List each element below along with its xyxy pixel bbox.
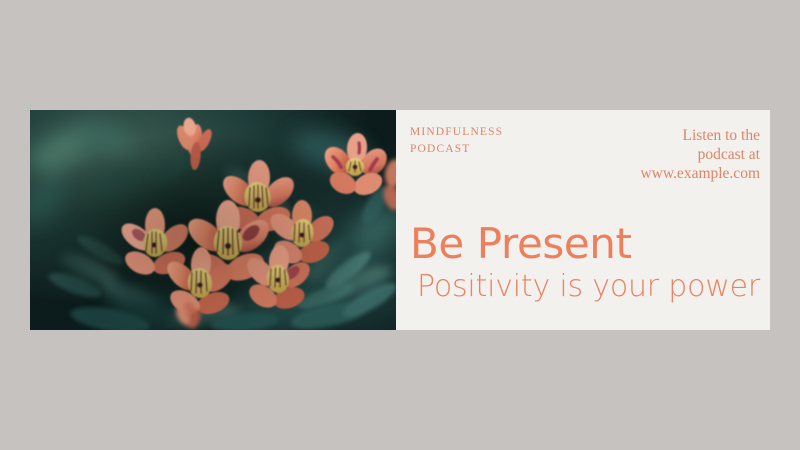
text-pane: MINDFULNESS PODCAST Listen to the podcas… bbox=[396, 110, 770, 330]
photo-pane bbox=[30, 110, 396, 330]
eyebrow-label: MINDFULNESS PODCAST bbox=[410, 124, 503, 158]
banner-card: MINDFULNESS PODCAST Listen to the podcas… bbox=[30, 110, 770, 330]
page-title: Be Present bbox=[410, 222, 632, 266]
alstroemeria-flowers-photo bbox=[30, 110, 396, 330]
page-subtitle: Positivity is your power bbox=[417, 270, 760, 304]
listen-cta[interactable]: Listen to the podcast at www.example.com bbox=[550, 126, 760, 183]
